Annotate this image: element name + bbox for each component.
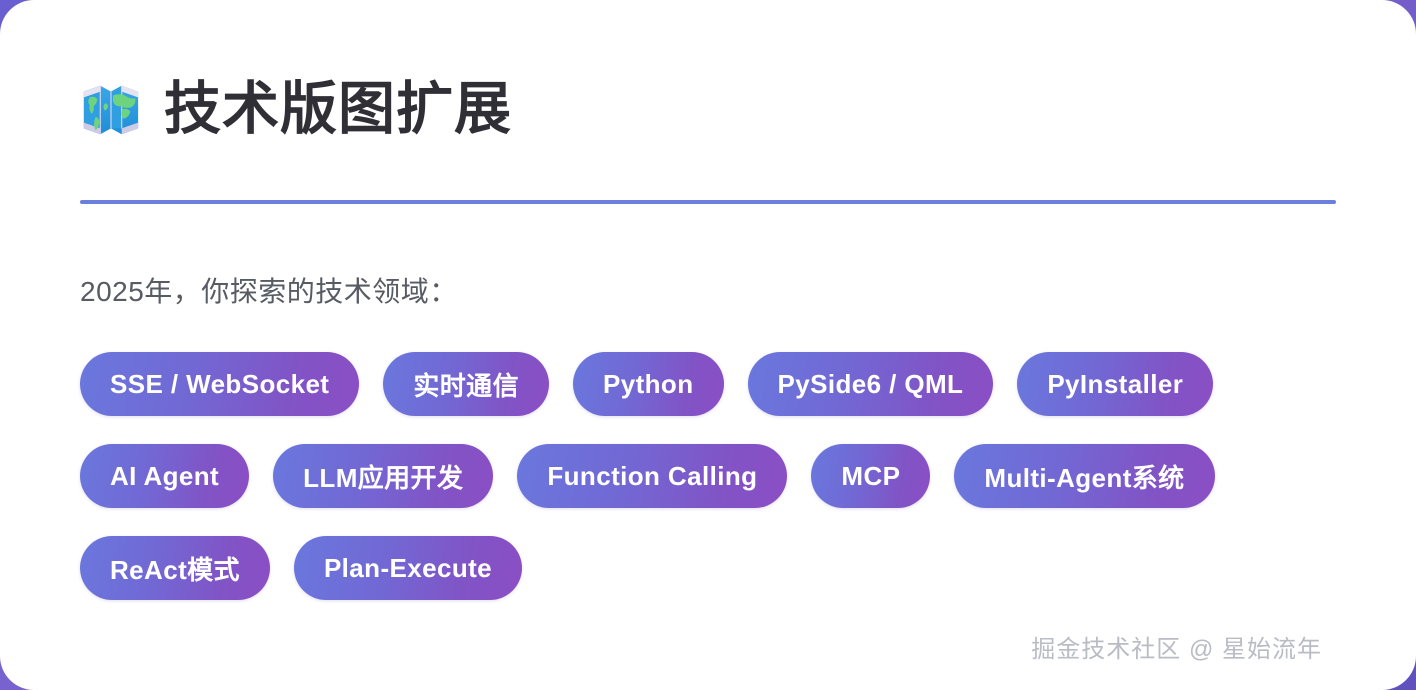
tech-pill[interactable]: Plan-Execute (294, 536, 522, 600)
tech-pill[interactable]: LLM应用开发 (273, 444, 493, 508)
world-map-icon (80, 78, 142, 140)
tech-pill-groups: SSE / WebSocket 实时通信 Python PySide6 / QM… (80, 352, 1336, 628)
tech-pill[interactable]: PySide6 / QML (748, 352, 994, 416)
tech-pill[interactable]: 实时通信 (383, 352, 549, 416)
title-divider (80, 200, 1336, 204)
pill-row: AI Agent LLM应用开发 Function Calling MCP Mu… (80, 444, 1336, 508)
page-title: 技术版图扩展 (164, 81, 512, 138)
page-header: 技术版图扩展 (80, 78, 512, 140)
tech-pill[interactable]: ReAct模式 (80, 536, 270, 600)
tech-pill[interactable]: Python (573, 352, 724, 416)
tech-pill[interactable]: PyInstaller (1017, 352, 1213, 416)
tech-pill[interactable]: MCP (811, 444, 930, 508)
subtitle-text: 2025年，你探索的技术领域： (80, 270, 458, 310)
card-content: 技术版图扩展 2025年，你探索的技术领域： SSE / WebSocket 实… (80, 0, 1336, 690)
watermark: 掘金技术社区 @ 星始流年 (1031, 629, 1322, 664)
tech-pill[interactable]: Function Calling (517, 444, 787, 508)
tech-pill[interactable]: AI Agent (80, 444, 249, 508)
pill-row: SSE / WebSocket 实时通信 Python PySide6 / QM… (80, 352, 1336, 416)
pill-row: ReAct模式 Plan-Execute (80, 536, 1336, 600)
slide-card: 技术版图扩展 2025年，你探索的技术领域： SSE / WebSocket 实… (0, 0, 1416, 690)
tech-pill[interactable]: SSE / WebSocket (80, 352, 359, 416)
tech-pill[interactable]: Multi-Agent系统 (954, 444, 1214, 508)
